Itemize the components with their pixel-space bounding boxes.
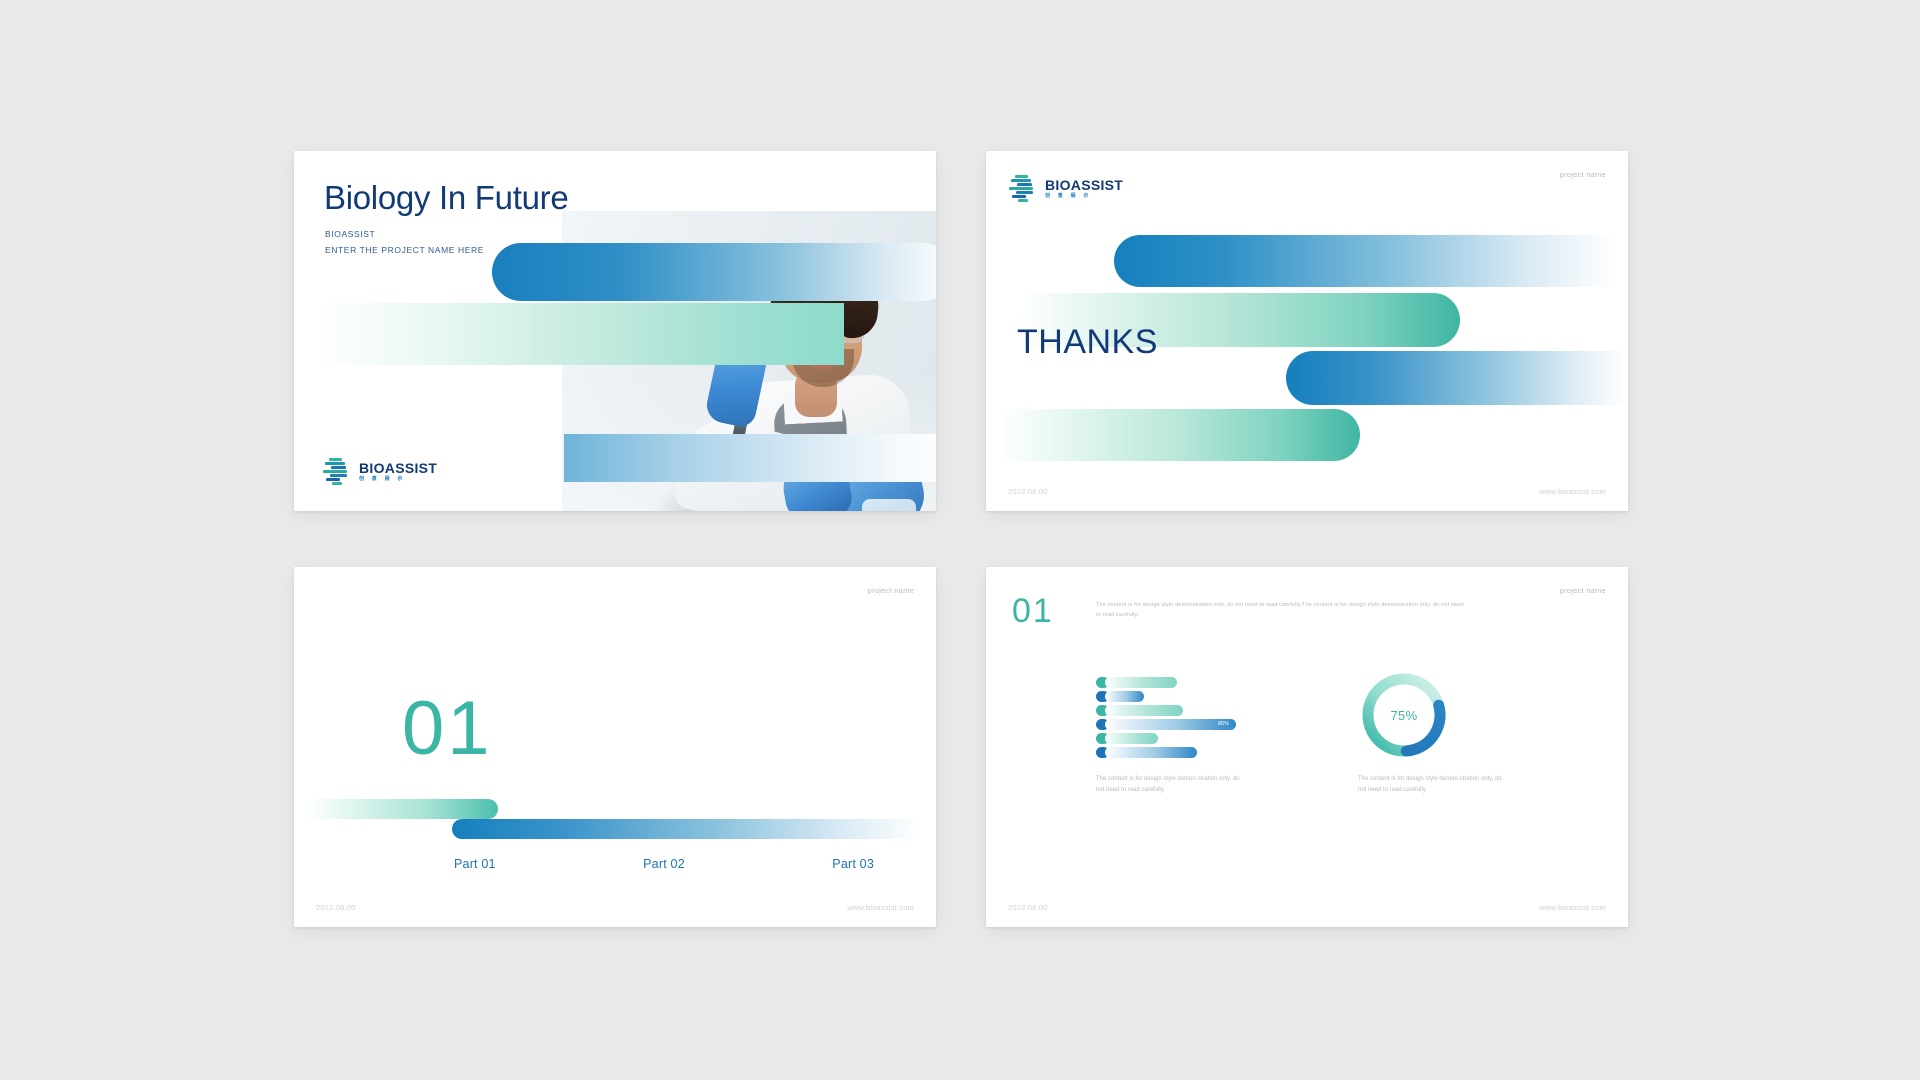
bar-row xyxy=(1096,733,1158,744)
part-item-2[interactable]: Part 02 xyxy=(643,857,685,871)
flask-icon xyxy=(862,499,916,511)
mouth xyxy=(811,361,833,369)
thanks-band-1 xyxy=(1114,235,1614,287)
bar-fill xyxy=(1105,677,1177,688)
slide-thanks[interactable]: project name BIOASSIST 创 意 展 示 THANKS xyxy=(986,151,1628,511)
logo-subtitle-cn: 创 意 展 示 xyxy=(1045,194,1123,199)
logo-name: BIOASSIST xyxy=(1045,178,1123,192)
divider-band-green xyxy=(308,799,498,819)
bar-row xyxy=(1096,677,1177,688)
slide-data[interactable]: project name 01 The content is for desig… xyxy=(986,567,1628,927)
page-title: Biology In Future xyxy=(324,179,568,217)
bar-value-label: 80% xyxy=(1218,719,1229,730)
bar-row xyxy=(1096,691,1144,702)
logo-wordmark: BIOASSIST 创 意 展 示 xyxy=(1045,178,1123,199)
bar-fill xyxy=(1105,747,1197,758)
cover-subtitle-brand: BIOASSIST xyxy=(325,229,375,239)
footer-date: 2022.08.00 xyxy=(316,903,356,912)
bar-row xyxy=(1096,747,1197,758)
project-name-label: project name xyxy=(1560,170,1606,179)
slide-cover[interactable]: Biology In Future BIOASSIST ENTER THE PR… xyxy=(294,151,936,511)
footer-url[interactable]: www.bioassist.com xyxy=(847,903,914,912)
cover-subtitle-project: ENTER THE PROJECT NAME HERE xyxy=(325,245,484,255)
lead-paragraph: The content is for design style demonstr… xyxy=(1096,601,1466,621)
part-list: Part 01 Part 02 Part 03 xyxy=(454,857,874,871)
horizontal-bar-chart: 80% xyxy=(1096,677,1236,761)
section-number: 01 xyxy=(402,691,493,767)
logo-wordmark: BIOASSIST 创 意 展 示 xyxy=(359,461,437,482)
bar-row: 80% xyxy=(1096,719,1236,730)
page-title: THANKS xyxy=(1017,323,1158,362)
logo-name: BIOASSIST xyxy=(359,461,437,475)
chart-caption-right: The content is for design style demon-st… xyxy=(1358,774,1508,796)
donut-chart: 75% xyxy=(1356,667,1452,763)
footer-date: 2022.08.00 xyxy=(1008,487,1048,496)
thanks-band-3 xyxy=(1286,351,1626,405)
project-name-label: project name xyxy=(1560,586,1606,595)
brand-logo[interactable]: BIOASSIST 创 意 展 示 xyxy=(322,456,437,486)
bar-fill xyxy=(1105,705,1183,716)
bar-fill xyxy=(1105,691,1144,702)
divider-band-blue xyxy=(452,819,922,839)
thanks-band-4 xyxy=(1000,409,1360,461)
cover-photo xyxy=(562,211,936,511)
bar-row xyxy=(1096,705,1183,716)
bar-fill xyxy=(1105,719,1236,730)
footer-url[interactable]: www.bioassist.com xyxy=(1539,903,1606,912)
donut-value-label: 75% xyxy=(1356,667,1452,763)
footer-date: 2022.08.00 xyxy=(1008,903,1048,912)
slide-deck: Biology In Future BIOASSIST ENTER THE PR… xyxy=(0,0,1920,1080)
footer-url[interactable]: www.bioassist.com xyxy=(1539,487,1606,496)
part-item-1[interactable]: Part 01 xyxy=(454,857,496,871)
logo-subtitle-cn: 创 意 展 示 xyxy=(359,477,437,482)
chart-caption-left: The content is for design style demon-st… xyxy=(1096,774,1246,796)
brand-logo[interactable]: BIOASSIST 创 意 展 示 xyxy=(1008,173,1123,203)
project-name-label: project name xyxy=(868,586,914,595)
bar-fill xyxy=(1105,733,1158,744)
bioassist-mark-icon xyxy=(1008,173,1038,203)
slide-section-divider[interactable]: project name 01 Part 01 Part 02 Part 03 … xyxy=(294,567,936,927)
bioassist-mark-icon xyxy=(322,456,352,486)
section-number: 01 xyxy=(1012,594,1054,628)
part-item-3[interactable]: Part 03 xyxy=(832,857,874,871)
